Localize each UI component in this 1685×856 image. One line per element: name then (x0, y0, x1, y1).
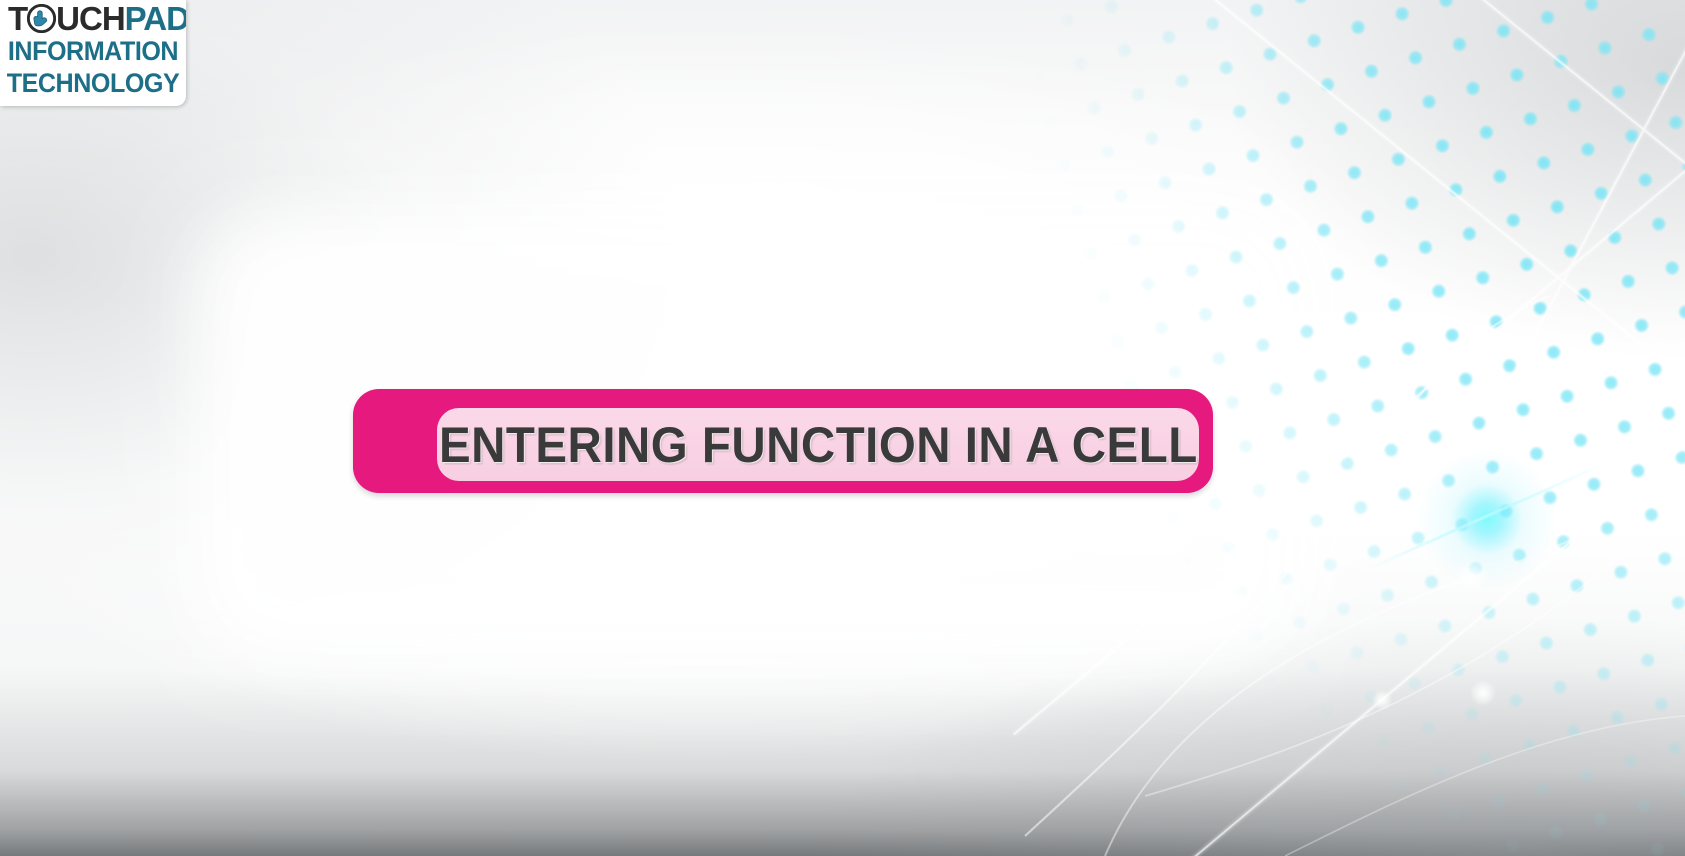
sparkle-dot (1455, 560, 1489, 594)
wire-line (1096, 0, 1685, 316)
logo-letters-pad: PAD (125, 2, 186, 35)
brand-logo: T UCH PAD INFORMATION TECHNOLOGY (0, 0, 186, 106)
sparkle-dot (1372, 690, 1392, 710)
slide-canvas: T UCH PAD INFORMATION TECHNOLOGY ENTERIN… (0, 0, 1685, 856)
wire-line (1216, 0, 1685, 196)
logo-wordmark: T UCH PAD (8, 2, 180, 35)
logo-subtitle-technology: TECHNOLOGY (7, 68, 180, 99)
title-banner: ENTERING FUNCTION IN A CELL (353, 389, 1213, 493)
slide-title: ENTERING FUNCTION IN A CELL (439, 420, 1198, 470)
logo-subtitle-information: INFORMATION (7, 36, 180, 67)
sparkle-dot (1470, 680, 1496, 706)
title-banner-inner-panel: ENTERING FUNCTION IN A CELL (437, 408, 1199, 481)
logo-letters-uch: UCH (56, 2, 125, 35)
curved-arcs-decoration (985, 296, 1685, 856)
touch-hand-icon (27, 4, 56, 33)
logo-letter-t: T (8, 2, 27, 35)
